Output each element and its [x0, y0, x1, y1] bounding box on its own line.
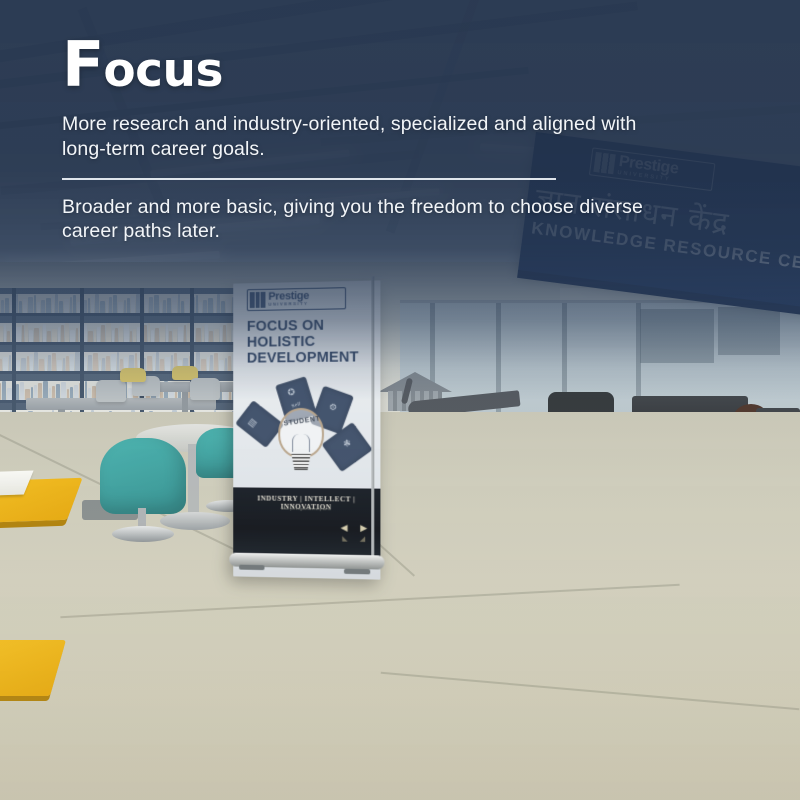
page-title: Focus	[62, 34, 682, 96]
book-spine	[27, 356, 29, 371]
book-spine	[109, 297, 112, 313]
book-spine	[45, 357, 47, 371]
book-spine	[1, 300, 4, 313]
book-spine	[66, 356, 69, 371]
book-spine	[201, 359, 206, 371]
book-spine	[29, 330, 33, 342]
book-spine	[88, 298, 90, 313]
book-spine	[102, 358, 105, 371]
books	[0, 294, 242, 313]
book-spine	[160, 302, 162, 313]
book-spine	[209, 331, 213, 342]
book-spine	[28, 297, 33, 313]
book-spine	[210, 355, 213, 371]
book-spine	[46, 298, 51, 313]
book-spine	[21, 358, 26, 371]
book-spine	[63, 358, 65, 371]
book-spine	[84, 357, 87, 371]
book-spine	[196, 328, 201, 342]
book-spine	[30, 354, 33, 371]
book-spine	[48, 355, 51, 371]
book-spine	[34, 352, 38, 371]
book-spine	[41, 300, 45, 313]
book-spine	[52, 329, 57, 342]
book-spine	[160, 326, 165, 342]
book-spine	[106, 323, 111, 342]
book-spine	[100, 301, 105, 313]
banner-arrows-secondary-icon: ◣ ◢	[342, 535, 370, 544]
book-spine	[16, 294, 18, 313]
book-spine	[111, 354, 116, 371]
book-spine	[4, 324, 6, 342]
book-spine	[91, 296, 94, 313]
shelf-row	[0, 323, 242, 345]
banner-diagram: ▤ ✪ Self ⚙ ✾ STUDENT	[243, 373, 370, 486]
book-spine	[70, 354, 74, 371]
book-spine	[34, 295, 36, 313]
book-spine	[127, 298, 130, 313]
book-spine	[20, 382, 24, 400]
book-spine	[208, 298, 213, 313]
book-spine	[16, 360, 20, 371]
book-spine	[203, 300, 207, 313]
book-spine	[133, 329, 136, 342]
book-spine	[22, 325, 24, 342]
glass-panel	[718, 307, 780, 355]
book-spine	[65, 323, 69, 342]
book-spine	[0, 359, 2, 371]
book-spine	[40, 326, 42, 342]
banner-logo: Prestige UNIVERSITY	[247, 287, 346, 311]
book-spine	[228, 356, 231, 371]
promo-image: Prestige UNIVERSITY FOCUS ON HOLISTIC DE…	[0, 0, 800, 800]
book-spine	[131, 296, 135, 313]
book-spine	[106, 299, 108, 313]
book-spine	[196, 295, 198, 313]
book-spine	[172, 296, 177, 313]
book-spine	[181, 301, 184, 313]
chair-yellow	[120, 368, 146, 382]
book-spine	[16, 384, 19, 400]
book-spine	[117, 352, 119, 371]
book-spine	[214, 296, 216, 313]
book-spine	[166, 324, 168, 342]
network-icon: ⚙	[327, 401, 338, 414]
book-spine	[16, 327, 21, 342]
book-spine	[219, 360, 224, 371]
book-spine	[113, 295, 117, 313]
book-spine	[199, 302, 202, 313]
book-spine	[101, 325, 105, 342]
book-spine	[154, 295, 159, 313]
book-spine	[217, 294, 220, 313]
book-spine	[52, 296, 54, 313]
book-spine	[19, 301, 22, 313]
book-spine	[2, 381, 6, 400]
book-spine	[39, 359, 44, 371]
banner-foot	[239, 565, 264, 570]
banner-url: www.prestigeuniversity.ac.in	[233, 506, 380, 512]
book-spine	[118, 302, 123, 313]
teal-chair	[100, 438, 186, 514]
glass-panel	[640, 309, 714, 363]
books	[0, 323, 242, 342]
book-spine	[227, 323, 231, 342]
book-spine	[25, 323, 28, 342]
book-spine	[160, 359, 164, 371]
book-spine	[9, 355, 11, 371]
banner-pole	[371, 276, 374, 559]
book-spine	[163, 300, 166, 313]
book-spine	[95, 294, 99, 313]
chair-base	[112, 526, 174, 542]
book-spine	[226, 299, 231, 313]
badge-icon: ✪	[286, 386, 296, 399]
gazebo-roof	[378, 372, 452, 392]
book-spine	[47, 331, 51, 342]
book-spine	[57, 360, 62, 371]
book-spine	[93, 353, 98, 371]
book-spine	[202, 326, 204, 342]
book-spine	[169, 331, 172, 342]
books	[0, 352, 242, 371]
book-spine	[106, 356, 110, 371]
book-spine	[214, 353, 218, 371]
book-spine	[70, 297, 72, 313]
option-a-text: More research and industry-oriented, spe…	[62, 112, 682, 162]
book-spine	[43, 324, 46, 342]
banner-footer: INDUSTRY | INTELLECT | INNOVATION www.pr…	[233, 487, 380, 557]
book-spine	[0, 326, 3, 342]
book-spine	[94, 329, 96, 342]
banner-face: Prestige UNIVERSITY FOCUS ON HOLISTIC DE…	[233, 280, 380, 579]
book-spine	[5, 298, 9, 313]
banner-arrows-icon: ◀ ▶	[341, 522, 373, 534]
book-spine	[130, 331, 132, 342]
book-spine	[153, 354, 155, 371]
book-spine	[37, 302, 40, 313]
headline-capital: F	[62, 28, 103, 101]
option-b-text: Broader and more basic, giving you the f…	[62, 195, 682, 245]
book-spine	[88, 331, 93, 342]
book-spine	[156, 352, 159, 371]
book-spine	[7, 331, 10, 342]
book-spine	[88, 355, 92, 371]
prestige-logo-icon	[250, 292, 266, 308]
lightbulb-filament	[292, 434, 310, 452]
book-spine	[220, 327, 222, 342]
book-spine	[184, 325, 186, 342]
book-spine	[151, 330, 154, 342]
book-spine	[34, 328, 39, 342]
book-spine	[149, 297, 153, 313]
book-spine	[165, 357, 170, 371]
book-spine	[185, 299, 189, 313]
lightbulb-base	[290, 454, 312, 470]
chair	[96, 380, 126, 402]
diagram-segment-1: ▤	[235, 400, 284, 448]
headline-rest: ocus	[103, 43, 223, 98]
book-spine	[178, 327, 183, 342]
book-spine	[167, 298, 171, 313]
book-spine	[61, 325, 64, 342]
book-spine	[223, 325, 226, 342]
book-spine	[76, 328, 78, 342]
book-spine	[58, 327, 60, 342]
book-spine	[225, 358, 227, 371]
book-spine	[0, 383, 1, 400]
book-spine	[112, 330, 114, 342]
book-spine	[64, 299, 69, 313]
book-spine	[23, 299, 27, 313]
shelf-row	[0, 294, 242, 316]
book-spine	[73, 295, 76, 313]
book-spine	[55, 294, 58, 313]
divider	[62, 178, 556, 180]
book-spine	[155, 328, 159, 342]
banner-logo-text: Prestige UNIVERSITY	[268, 291, 309, 307]
gear-icon: ✾	[340, 437, 353, 450]
book-spine	[119, 326, 123, 342]
book-spine	[97, 327, 100, 342]
book-spine	[214, 329, 219, 342]
banner-headline: FOCUS ON HOLISTIC DEVELOPMENT	[247, 317, 370, 367]
round-table-base	[160, 512, 230, 530]
rollup-banner: Prestige UNIVERSITY FOCUS ON HOLISTIC DE…	[233, 280, 380, 579]
book-spine	[124, 324, 129, 342]
book-spine	[207, 357, 209, 371]
book-spine	[115, 328, 118, 342]
book-spine	[148, 323, 150, 342]
book-icon: ▤	[246, 416, 260, 429]
book-spine	[173, 329, 177, 342]
banner-brand-sub: UNIVERSITY	[268, 302, 309, 307]
book-spine	[221, 301, 225, 313]
book-spine	[124, 300, 126, 313]
book-spine	[99, 360, 101, 371]
banner-foot	[344, 569, 370, 575]
book-spine	[59, 301, 63, 313]
book-spine	[145, 299, 148, 313]
book-spine	[3, 357, 8, 371]
book-spine	[147, 356, 152, 371]
book-spine	[178, 294, 180, 313]
book-spine	[70, 330, 75, 342]
book-spine	[52, 353, 56, 371]
book-spine	[205, 324, 208, 342]
copy-block: Focus More research and industry-oriente…	[62, 34, 682, 244]
chair	[190, 378, 220, 400]
